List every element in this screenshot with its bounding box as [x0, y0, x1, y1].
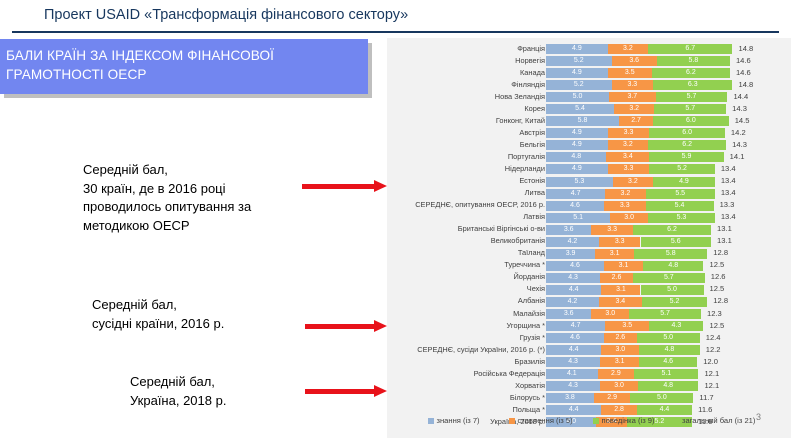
chart-row-label: Норвегія: [315, 56, 545, 66]
bar-segment-attitude: 3.7: [609, 92, 656, 102]
bar-segment-knowledge: 4.9: [546, 164, 608, 174]
bar-segment-behaviour: 4.8: [639, 345, 699, 355]
chart-row: Угорщина *4.73.54.312.5: [387, 320, 791, 332]
bar-segment-behaviour: 4.4: [637, 405, 692, 415]
chart-row-total: 13.4: [721, 212, 761, 222]
chart-row-total: 13.1: [717, 224, 757, 234]
chart-row: Гонконг, Китай5.82.76.014.5: [387, 115, 791, 127]
chart-legend: знання (із 7) ставлення (із 5) поведінка…: [387, 415, 791, 429]
chart-row-label: Естонія: [315, 176, 545, 186]
chart-row-label: Албанія: [315, 296, 545, 306]
bar-segment-attitude: 2.9: [598, 369, 635, 379]
bar-segment-behaviour: 5.3: [648, 213, 715, 223]
bar-segment-attitude: 2.8: [601, 405, 636, 415]
chart-row-total: 14.8: [738, 44, 778, 54]
chart-row-total: 12.1: [704, 369, 744, 379]
chart-row: Норвегія5.23.65.814.6: [387, 55, 791, 67]
chart-row: Австрія4.93.36.014.2: [387, 127, 791, 139]
chart-row-bars: 4.23.45.2: [546, 297, 707, 307]
chart-row: Грузія *4.62.65.012.4: [387, 332, 791, 344]
chart-row-label: Гонконг, Китай: [315, 116, 545, 126]
legend-item-knowledge: знання (із 7): [428, 415, 480, 427]
bar-segment-behaviour: 5.2: [649, 164, 715, 174]
bar-segment-behaviour: 6.0: [649, 128, 725, 138]
chart-row-total: 12.1: [704, 381, 744, 391]
bar-segment-knowledge: 4.9: [546, 68, 608, 78]
legend-swatch-icon: [593, 418, 599, 424]
bar-segment-knowledge: 4.2: [546, 297, 599, 307]
bar-segment-attitude: 3.0: [610, 213, 648, 223]
bar-segment-knowledge: 4.2: [546, 237, 599, 247]
chart-row-bars: 4.93.26.7: [546, 44, 732, 54]
chart-row-bars: 4.43.04.8: [546, 345, 700, 355]
bar-segment-behaviour: 5.1: [634, 369, 698, 379]
bar-segment-behaviour: 6.2: [652, 68, 730, 78]
bar-segment-attitude: 3.0: [601, 345, 639, 355]
chart-row: Канада4.93.56.214.6: [387, 67, 791, 79]
section-title-text: БАЛИ КРАЇН ЗА ІНДЕКСОМ ФІНАНСОВОЇ ГРАМОТ…: [6, 46, 362, 84]
bar-segment-knowledge: 4.6: [546, 201, 604, 211]
slide-header: Проект USAID «Трансформація фінансового …: [0, 0, 791, 34]
section-title-box: БАЛИ КРАЇН ЗА ІНДЕКСОМ ФІНАНСОВОЇ ГРАМОТ…: [0, 39, 368, 94]
chart-row-bars: 4.93.35.2: [546, 164, 715, 174]
chart-row-bars: 5.82.76.0: [546, 116, 729, 126]
bar-segment-knowledge: 4.3: [546, 381, 600, 391]
chart-row-bars: 3.93.15.8: [546, 249, 707, 259]
page-number: 3: [756, 412, 761, 422]
bar-segment-knowledge: 4.3: [546, 273, 600, 283]
chart-row-bars: 4.43.15.0: [546, 285, 704, 295]
legend-label: знання (із 7): [437, 416, 480, 425]
bar-segment-behaviour: 5.7: [656, 92, 728, 102]
chart-row-label: Корея: [315, 104, 545, 114]
chart-row: Албанія4.23.45.212.8: [387, 296, 791, 308]
bar-segment-attitude: 3.2: [613, 177, 653, 187]
bar-segment-attitude: 3.0: [600, 381, 638, 391]
chart-row-bars: 4.32.65.7: [546, 273, 705, 283]
chart-row: Фінляндія5.23.36.314.8: [387, 79, 791, 91]
bar-segment-behaviour: 5.8: [657, 56, 730, 66]
bar-segment-attitude: 3.5: [605, 321, 649, 331]
chart-row-bars: 4.73.54.3: [546, 321, 704, 331]
bar-segment-attitude: 3.3: [608, 128, 650, 138]
bar-segment-knowledge: 5.3: [546, 177, 613, 187]
chart-row: Бразилія4.33.14.612.0: [387, 356, 791, 368]
bar-segment-knowledge: 3.6: [546, 225, 591, 235]
chart-row-bars: 4.73.25.5: [546, 189, 715, 199]
chart-row-total: 13.4: [721, 164, 761, 174]
chart-row-total: 13.1: [717, 236, 757, 246]
annotation-average-neighbours: Середній бал, сусідні країни, 2016 р.: [92, 296, 224, 333]
legend-label: загальний бал (із 21): [682, 416, 755, 425]
annotation-average-30-countries: Середній бал, 30 країн, де в 2016 році п…: [83, 161, 251, 235]
bar-segment-attitude: 3.4: [606, 152, 649, 162]
chart-row-bars: 3.82.95.0: [546, 393, 693, 403]
bar-segment-behaviour: 5.5: [646, 189, 715, 199]
chart-row: Франція4.93.26.714.8: [387, 43, 791, 55]
bar-segment-knowledge: 4.6: [546, 261, 604, 271]
bar-segment-attitude: 3.1: [604, 261, 643, 271]
chart-row-label: Грузія *: [315, 333, 545, 343]
chart-row-total: 14.6: [736, 68, 776, 78]
bar-segment-attitude: 3.3: [591, 225, 633, 235]
legend-swatch-icon: [509, 418, 515, 424]
chart-row-bars: 4.93.36.0: [546, 128, 725, 138]
bar-segment-attitude: 2.6: [604, 333, 637, 343]
chart-row-total: 14.1: [730, 152, 770, 162]
chart-row-total: 12.3: [707, 309, 747, 319]
chart-row-label: Туреччина *: [315, 260, 545, 270]
chart-row-bars: 5.23.65.8: [546, 56, 730, 66]
bar-segment-behaviour: 5.7: [629, 309, 701, 319]
legend-swatch-icon: [428, 418, 434, 424]
chart-row-total: 14.8: [738, 80, 778, 90]
bar-segment-behaviour: 6.3: [653, 80, 732, 90]
bar-segment-knowledge: 4.9: [546, 128, 608, 138]
chart-row-total: 12.5: [710, 260, 750, 270]
chart-row-total: 12.4: [706, 333, 746, 343]
chart-row-label: Польща *: [315, 405, 545, 415]
bar-segment-behaviour: 6.0: [653, 116, 729, 126]
chart-row: Бельгія4.93.26.214.3: [387, 139, 791, 151]
bar-segment-attitude: 3.1: [595, 249, 634, 259]
bar-segment-knowledge: 4.7: [546, 321, 605, 331]
chart-row-total: 11.6: [698, 405, 738, 415]
bar-segment-behaviour: 5.0: [637, 333, 700, 343]
bar-segment-attitude: 3.3: [604, 201, 646, 211]
bar-segment-attitude: 3.2: [614, 104, 654, 114]
chart-row-bars: 4.33.14.6: [546, 357, 697, 367]
bar-segment-knowledge: 4.3: [546, 357, 600, 367]
bar-segment-attitude: 3.4: [599, 297, 642, 307]
bar-segment-knowledge: 5.2: [546, 80, 612, 90]
chart-row-label: Австрія: [315, 128, 545, 138]
chart-row-bars: 4.83.45.9: [546, 152, 724, 162]
chart-row-bars: 3.63.05.7: [546, 309, 701, 319]
chart-row-total: 11.7: [699, 393, 739, 403]
bar-segment-attitude: 3.3: [599, 237, 641, 247]
chart-row-total: 14.6: [736, 56, 776, 66]
chart-row-bars: 4.42.84.4: [546, 405, 692, 415]
page-title: Проект USAID «Трансформація фінансового …: [44, 7, 408, 23]
chart-row-label: Йорданія: [315, 272, 545, 282]
chart-row-total: 14.3: [732, 140, 772, 150]
bar-segment-attitude: 3.6: [612, 56, 657, 66]
legend-label: ставлення (із 5): [518, 416, 573, 425]
chart-row-bars: 5.33.24.9: [546, 177, 715, 187]
bar-segment-behaviour: 4.3: [649, 321, 703, 331]
chart-row-bars: 4.63.35.4: [546, 201, 714, 211]
stacked-bar-chart: Франція4.93.26.714.8Норвегія5.23.65.814.…: [387, 38, 791, 438]
chart-row-label: Російська Федерація: [315, 369, 545, 379]
bar-segment-behaviour: 5.0: [641, 285, 704, 295]
bar-segment-knowledge: 4.8: [546, 152, 606, 162]
chart-row-label: СЕРЕДНЄ, сусіди України, 2016 р. (*): [315, 345, 545, 355]
chart-row-label: Литва: [315, 188, 545, 198]
bar-segment-behaviour: 4.8: [643, 261, 703, 271]
bar-segment-attitude: 3.2: [605, 189, 645, 199]
chart-row: Литва4.73.25.513.4: [387, 188, 791, 200]
chart-rows-container: Франція4.93.26.714.8Норвегія5.23.65.814.…: [387, 43, 791, 429]
chart-row: Білорусь *3.82.95.011.7: [387, 392, 791, 404]
chart-row: Туреччина *4.63.14.812.5: [387, 260, 791, 272]
bar-segment-attitude: 3.1: [600, 357, 639, 367]
chart-row-total: 12.5: [710, 284, 750, 294]
legend-label: поведінка (із 9): [602, 416, 655, 425]
bar-segment-attitude: 3.3: [608, 164, 650, 174]
bar-segment-behaviour: 6.2: [648, 140, 726, 150]
chart-row-total: 12.0: [703, 357, 743, 367]
chart-row-bars: 3.63.36.2: [546, 225, 711, 235]
bar-segment-attitude: 3.2: [608, 44, 648, 54]
chart-row: Малайзія3.63.05.712.3: [387, 308, 791, 320]
bar-segment-knowledge: 4.4: [546, 285, 601, 295]
bar-segment-knowledge: 4.9: [546, 140, 608, 150]
chart-row-total: 14.3: [732, 104, 772, 114]
chart-row-label: Нідерланди: [315, 164, 545, 174]
chart-row-total: 12.8: [713, 248, 753, 258]
chart-row-label: Таїланд: [315, 248, 545, 258]
chart-row: Британські Віргінські о-ви3.63.36.213.1: [387, 224, 791, 236]
bar-segment-knowledge: 4.6: [546, 333, 604, 343]
bar-segment-knowledge: 5.4: [546, 104, 614, 114]
bar-segment-attitude: 2.7: [619, 116, 653, 126]
chart-row-bars: 4.62.65.0: [546, 333, 700, 343]
chart-row-total: 12.2: [706, 345, 746, 355]
bar-segment-behaviour: 4.8: [638, 381, 698, 391]
chart-row-label: Латвія: [315, 212, 545, 222]
chart-row: Російська Федерація4.12.95.112.1: [387, 368, 791, 380]
chart-row-label: Угорщина *: [315, 321, 545, 331]
bar-segment-knowledge: 4.4: [546, 405, 601, 415]
chart-row: Нова Зеландія5.03.75.714.4: [387, 91, 791, 103]
chart-row: Великобританія4.23.35.613.1: [387, 236, 791, 248]
chart-row-label: Малайзія: [315, 309, 545, 319]
chart-row-bars: 4.33.04.8: [546, 381, 698, 391]
chart-row: Йорданія4.32.65.712.6: [387, 272, 791, 284]
bar-segment-attitude: 3.5: [608, 68, 652, 78]
bar-segment-behaviour: 5.8: [634, 249, 707, 259]
bar-segment-behaviour: 5.9: [649, 152, 723, 162]
chart-row-bars: 5.23.36.3: [546, 80, 732, 90]
bar-segment-attitude: 3.1: [601, 285, 640, 295]
chart-row-label: Хорватія: [315, 381, 545, 391]
bar-segment-knowledge: 5.1: [546, 213, 610, 223]
chart-row-total: 14.2: [731, 128, 771, 138]
chart-row: Таїланд3.93.15.812.8: [387, 248, 791, 260]
bar-segment-behaviour: 5.7: [633, 273, 705, 283]
chart-row: Нідерланди4.93.35.213.4: [387, 163, 791, 175]
bar-segment-behaviour: 5.4: [646, 201, 714, 211]
chart-row-bars: 4.63.14.8: [546, 261, 704, 271]
header-divider: [12, 31, 779, 33]
chart-row-label: Канада: [315, 68, 545, 78]
bar-segment-behaviour: 5.0: [630, 393, 693, 403]
bar-segment-attitude: 3.0: [591, 309, 629, 319]
bar-segment-knowledge: 3.9: [546, 249, 595, 259]
bar-segment-attitude: 3.3: [612, 80, 654, 90]
bar-segment-attitude: 3.2: [608, 140, 648, 150]
bar-segment-attitude: 2.6: [600, 273, 633, 283]
bar-segment-behaviour: 5.2: [642, 297, 708, 307]
chart-row: СЕРЕДНЄ, сусіди України, 2016 р. (*)4.43…: [387, 344, 791, 356]
chart-row-label: Британські Віргінські о-ви: [315, 224, 545, 234]
annotation-average-ukraine: Середній бал, Україна, 2018 р.: [130, 373, 226, 410]
chart-row-bars: 4.93.56.2: [546, 68, 730, 78]
chart-row-bars: 4.23.35.6: [546, 237, 711, 247]
chart-row: Чехія4.43.15.012.5: [387, 284, 791, 296]
chart-row-label: Фінляндія: [315, 80, 545, 90]
chart-row-total: 13.4: [721, 176, 761, 186]
chart-row-total: 13.4: [721, 188, 761, 198]
bar-segment-knowledge: 3.8: [546, 393, 594, 403]
chart-row-label: Нова Зеландія: [315, 92, 545, 102]
chart-row-total: 13.3: [720, 200, 760, 210]
chart-row-total: 14.5: [735, 116, 775, 126]
bar-segment-behaviour: 5.7: [654, 104, 726, 114]
bar-segment-knowledge: 5.8: [546, 116, 619, 126]
chart-row-bars: 5.43.25.7: [546, 104, 726, 114]
chart-row-bars: 4.93.26.2: [546, 140, 726, 150]
bar-segment-behaviour: 4.9: [653, 177, 715, 187]
bar-segment-behaviour: 6.2: [633, 225, 711, 235]
bar-segment-behaviour: 4.6: [639, 357, 697, 367]
bar-segment-behaviour: 5.6: [641, 237, 712, 247]
bar-segment-knowledge: 4.1: [546, 369, 598, 379]
legend-item-attitude: ставлення (із 5): [509, 415, 573, 427]
chart-row-label: Чехія: [315, 284, 545, 294]
chart-row-label: Бразилія: [315, 357, 545, 367]
chart-row: Латвія5.13.05.313.4: [387, 212, 791, 224]
chart-row: Корея5.43.25.714.3: [387, 103, 791, 115]
bar-segment-knowledge: 4.4: [546, 345, 601, 355]
chart-row: СЕРЕДНЄ, опитування ОЕСР, 2016 р.4.63.35…: [387, 200, 791, 212]
chart-row-label: СЕРЕДНЄ, опитування ОЕСР, 2016 р.: [315, 200, 545, 210]
chart-row-total: 12.5: [710, 321, 750, 331]
bar-segment-behaviour: 6.7: [648, 44, 732, 54]
chart-row: Хорватія4.33.04.812.1: [387, 380, 791, 392]
chart-row-label: Бельгія: [315, 140, 545, 150]
bar-segment-knowledge: 4.9: [546, 44, 608, 54]
legend-item-behaviour: поведінка (із 9): [593, 415, 655, 427]
chart-row-total: 12.8: [713, 296, 753, 306]
chart-row-total: 12.6: [711, 272, 751, 282]
bar-segment-knowledge: 4.7: [546, 189, 605, 199]
chart-row: Португалія4.83.45.914.1: [387, 151, 791, 163]
chart-row-bars: 5.13.05.3: [546, 213, 715, 223]
chart-row-label: Франція: [315, 44, 545, 54]
chart-row-label: Білорусь *: [315, 393, 545, 403]
bar-segment-knowledge: 5.2: [546, 56, 612, 66]
chart-row-bars: 4.12.95.1: [546, 369, 698, 379]
bar-segment-attitude: 2.9: [594, 393, 631, 403]
chart-row-label: Великобританія: [315, 236, 545, 246]
chart-row-total: 14.4: [733, 92, 773, 102]
legend-item-total: загальний бал (із 21): [682, 415, 755, 427]
chart-row-bars: 5.03.75.7: [546, 92, 727, 102]
bar-segment-knowledge: 5.0: [546, 92, 609, 102]
chart-row: Естонія5.33.24.913.4: [387, 176, 791, 188]
chart-row-label: Португалія: [315, 152, 545, 162]
bar-segment-knowledge: 3.6: [546, 309, 591, 319]
